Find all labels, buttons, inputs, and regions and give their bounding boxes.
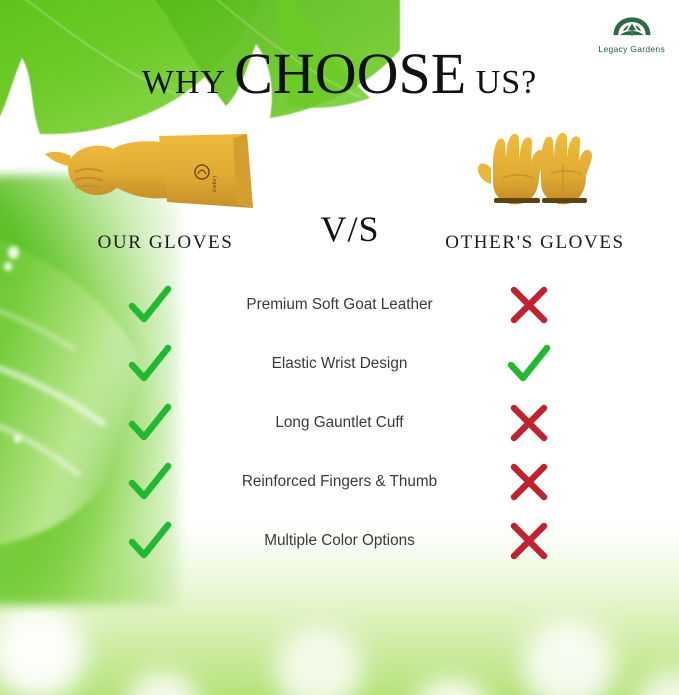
short-glove-pair-icon [430, 128, 640, 216]
green-check-icon [127, 462, 173, 502]
green-check-icon [127, 344, 173, 384]
table-row: Multiple Color Options [0, 519, 679, 563]
mark-theirs [489, 344, 569, 384]
title-choose: CHOOSE [234, 41, 466, 106]
red-cross-icon [506, 403, 552, 443]
table-row: Reinforced Fingers & Thumb [0, 460, 679, 504]
mark-theirs [489, 403, 569, 443]
mark-theirs [489, 285, 569, 325]
garden-arch-tree-icon [611, 16, 653, 42]
light-fleck [4, 262, 12, 271]
title-why: WHY [142, 64, 234, 101]
page-title: WHY CHOOSE US? [0, 40, 679, 107]
feature-label: Reinforced Fingers & Thumb [190, 472, 489, 492]
red-cross-icon [506, 285, 552, 325]
table-row: Elastic Wrist Design [0, 342, 679, 386]
light-fleck [8, 246, 19, 259]
feature-label: Long Gauntlet Cuff [190, 413, 489, 433]
long-gauntlet-glove-icon: Legacy [38, 128, 293, 216]
table-row: Premium Soft Goat Leather [0, 283, 679, 327]
mark-ours [110, 462, 190, 502]
versus-divider: V/S [300, 208, 400, 250]
green-check-icon [127, 521, 173, 561]
feature-label: Elastic Wrist Design [190, 354, 489, 374]
mark-theirs [489, 462, 569, 502]
mark-ours [110, 285, 190, 325]
table-row: Long Gauntlet Cuff [0, 401, 679, 445]
infographic-canvas: Legacy Gardens WHY CHOOSE US? [0, 0, 679, 695]
mark-ours [110, 403, 190, 443]
column-other-gloves: OTHER'S GLOVES [430, 128, 640, 254]
green-check-icon [506, 344, 552, 384]
green-check-icon [127, 403, 173, 443]
red-cross-icon [506, 462, 552, 502]
red-cross-icon [506, 521, 552, 561]
green-check-icon [127, 285, 173, 325]
svg-text:Legacy: Legacy [211, 176, 217, 193]
column-our-gloves: Legacy OUR GLOVES [38, 128, 293, 254]
column-label-theirs: OTHER'S GLOVES [430, 232, 640, 254]
mark-ours [110, 521, 190, 561]
feature-label: Multiple Color Options [190, 531, 489, 551]
comparison-table: Premium Soft Goat Leather Elastic Wrist … [0, 283, 679, 578]
title-us: US? [466, 64, 537, 101]
mark-theirs [489, 521, 569, 561]
column-label-ours: OUR GLOVES [38, 232, 293, 254]
mark-ours [110, 344, 190, 384]
feature-label: Premium Soft Goat Leather [190, 295, 489, 315]
